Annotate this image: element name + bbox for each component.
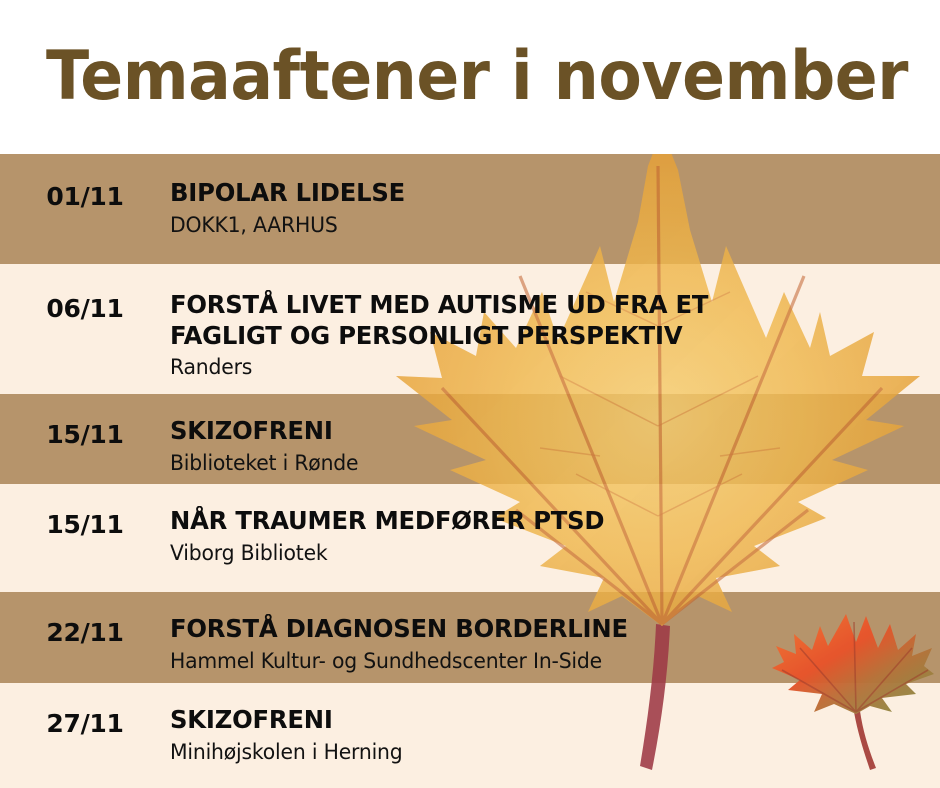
event-row-band: [0, 683, 940, 788]
event-row-band: [0, 484, 940, 592]
page-title: Temaaftener i november: [46, 43, 908, 111]
event-rows-bands: [0, 154, 940, 788]
event-row-band: [0, 264, 940, 394]
event-row-band: [0, 592, 940, 683]
event-row-band: [0, 394, 940, 484]
poster-canvas: 01/11BIPOLAR LIDELSEDOKK1, AARHUS06/11FO…: [0, 0, 940, 788]
event-row-band: [0, 154, 940, 264]
poster-header: Temaaftener i november: [0, 0, 940, 154]
